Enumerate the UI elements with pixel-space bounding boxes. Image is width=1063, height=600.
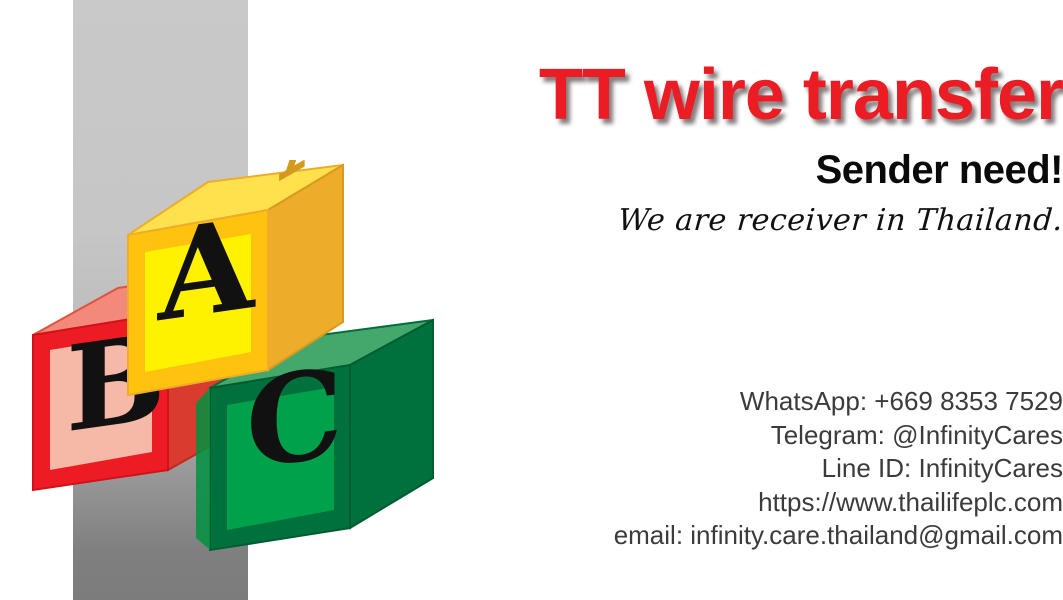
- contact-line-telegram: Telegram: @InfinityCares: [363, 419, 1063, 453]
- subtitle: Sender need!: [363, 148, 1063, 193]
- contact-line-whatsapp: WhatsApp: +669 8353 7529: [363, 385, 1063, 419]
- page-title: TT wire transfer: [363, 58, 1063, 134]
- contact-line-website[interactable]: https://www.thailifeplc.com: [363, 486, 1063, 520]
- contact-line-email[interactable]: email: infinity.care.thailand@gmail.com: [363, 519, 1063, 553]
- block-c-left-ghost: [196, 388, 210, 550]
- banner-canvas: B B B C C: [0, 0, 1063, 600]
- contact-line-lineid: Line ID: InfinityCares: [363, 452, 1063, 486]
- tagline: We are receiver in Thailand.: [362, 203, 1063, 238]
- block-a-letter: A: [157, 191, 257, 350]
- contact-details: WhatsApp: +669 8353 7529 Telegram: @Infi…: [363, 385, 1063, 553]
